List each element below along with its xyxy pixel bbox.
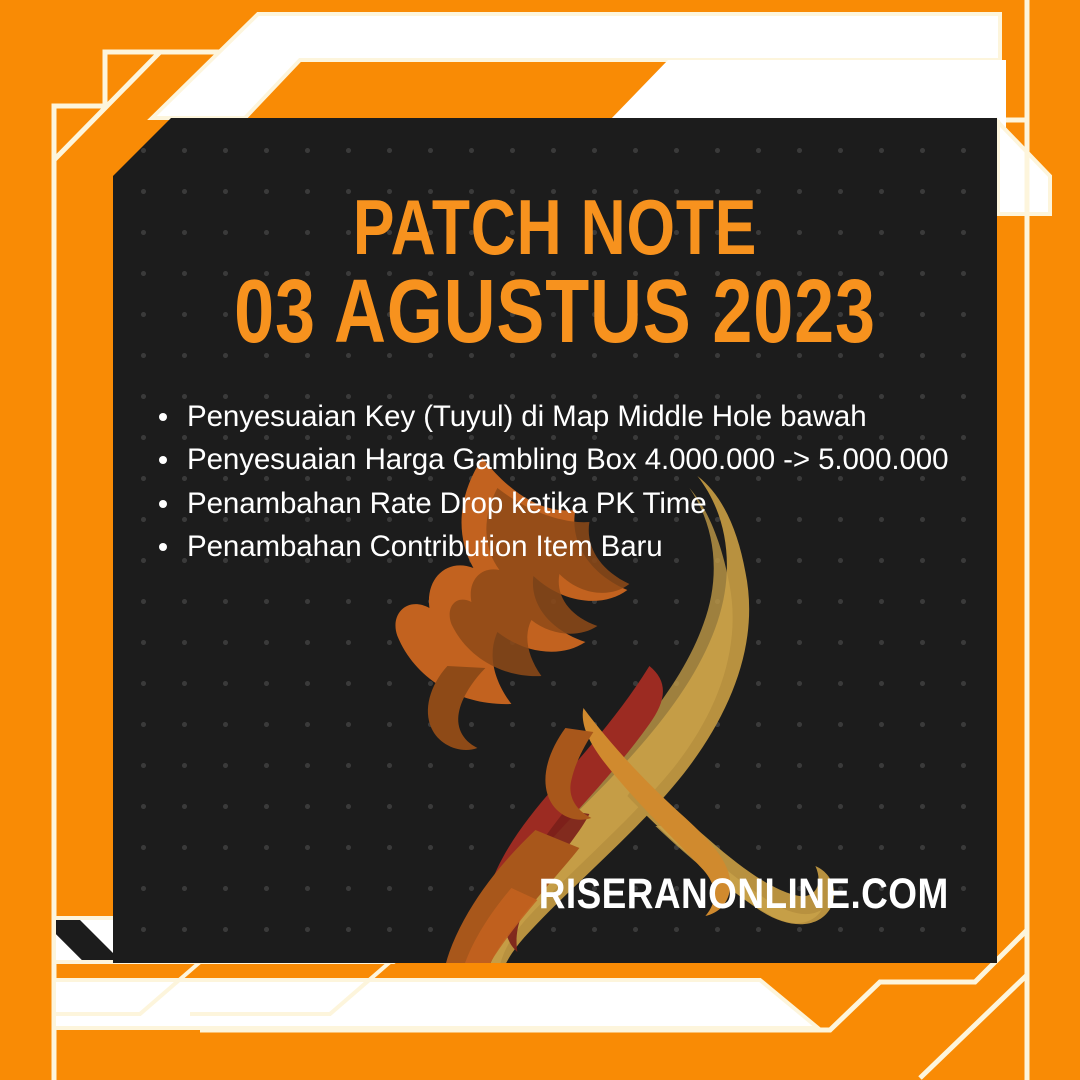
panel-content: PATCH NOTE 03 AGUSTUS 2023 Penyesuaian K… [113,118,997,963]
patch-note-poster: PATCH NOTE 03 AGUSTUS 2023 Penyesuaian K… [0,0,1080,1080]
list-item: Penyesuaian Key (Tuyul) di Map Middle Ho… [145,396,965,437]
page-title: PATCH NOTE 03 AGUSTUS 2023 [113,190,997,355]
content-panel: PATCH NOTE 03 AGUSTUS 2023 Penyesuaian K… [113,118,997,963]
patch-note-list: Penyesuaian Key (Tuyul) di Map Middle Ho… [145,396,965,569]
list-item: Penambahan Contribution Item Baru [145,526,965,567]
list-item: Penyesuaian Harga Gambling Box 4.000.000… [145,439,965,480]
top-right-connector [998,122,1050,214]
website-url: RISERANONLINE.COM [539,870,949,919]
list-item: Penambahan Rate Drop ketika PK Time [145,483,965,524]
title-line-2: 03 AGUSTUS 2023 [201,269,908,355]
title-line-1: PATCH NOTE [201,190,908,265]
